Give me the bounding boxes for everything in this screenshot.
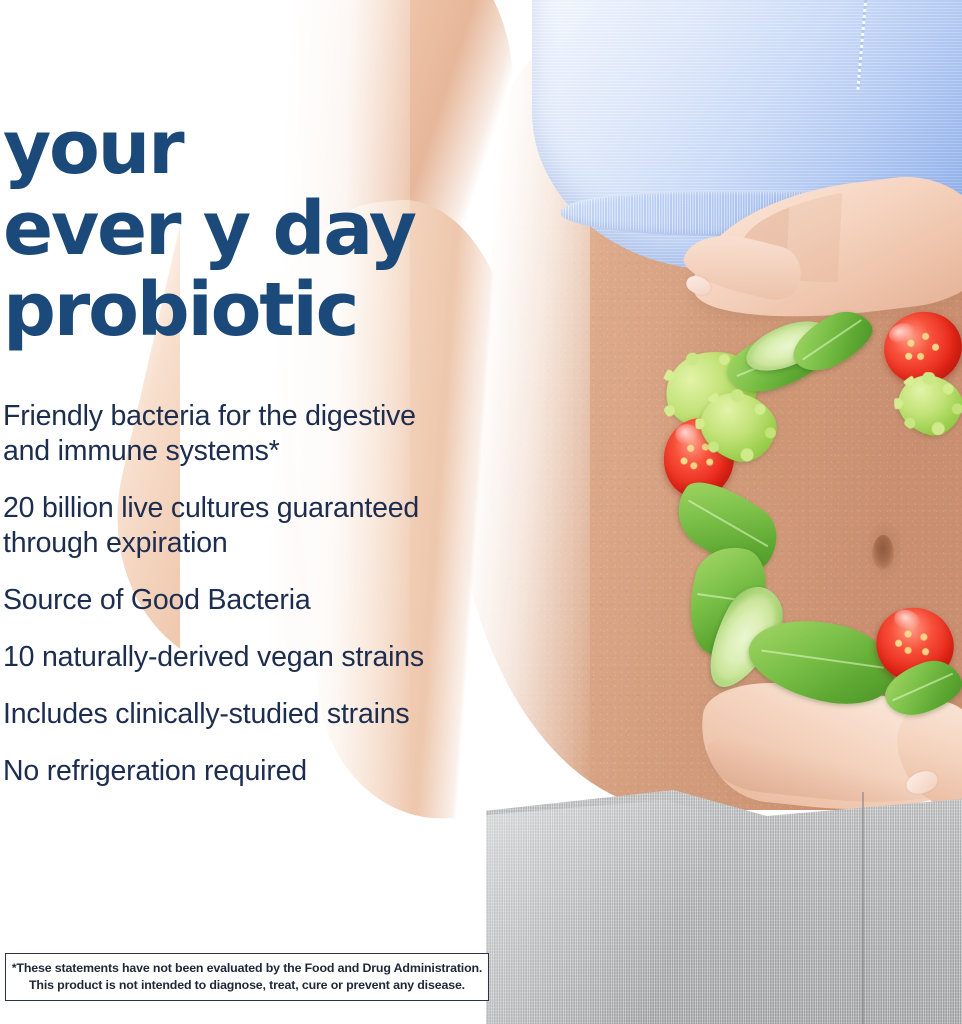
list-item: 10 naturally-derived vegan strains bbox=[3, 640, 503, 675]
list-item: Includes clinically-studied strains bbox=[3, 697, 503, 732]
text-overlay: your ever y day probiotic Friendly bacte… bbox=[0, 0, 962, 1024]
product-marketing-image: your ever y day probiotic Friendly bacte… bbox=[0, 0, 962, 1024]
list-item: Friendly bacteria for the digestive and … bbox=[3, 399, 503, 469]
fda-disclaimer-box: *These statements have not been evaluate… bbox=[5, 953, 489, 1001]
disclaimer-line-2: This product is not intended to diagnose… bbox=[29, 977, 465, 994]
benefit-list: Friendly bacteria for the digestive and … bbox=[3, 399, 503, 811]
list-item: Source of Good Bacteria bbox=[3, 583, 503, 618]
list-item: 20 billion live cultures guaranteed thro… bbox=[3, 491, 503, 561]
disclaimer-line-1: *These statements have not been evaluate… bbox=[12, 960, 482, 977]
page-title: your ever y day probiotic bbox=[3, 108, 415, 351]
list-item: No refrigeration required bbox=[3, 754, 503, 789]
